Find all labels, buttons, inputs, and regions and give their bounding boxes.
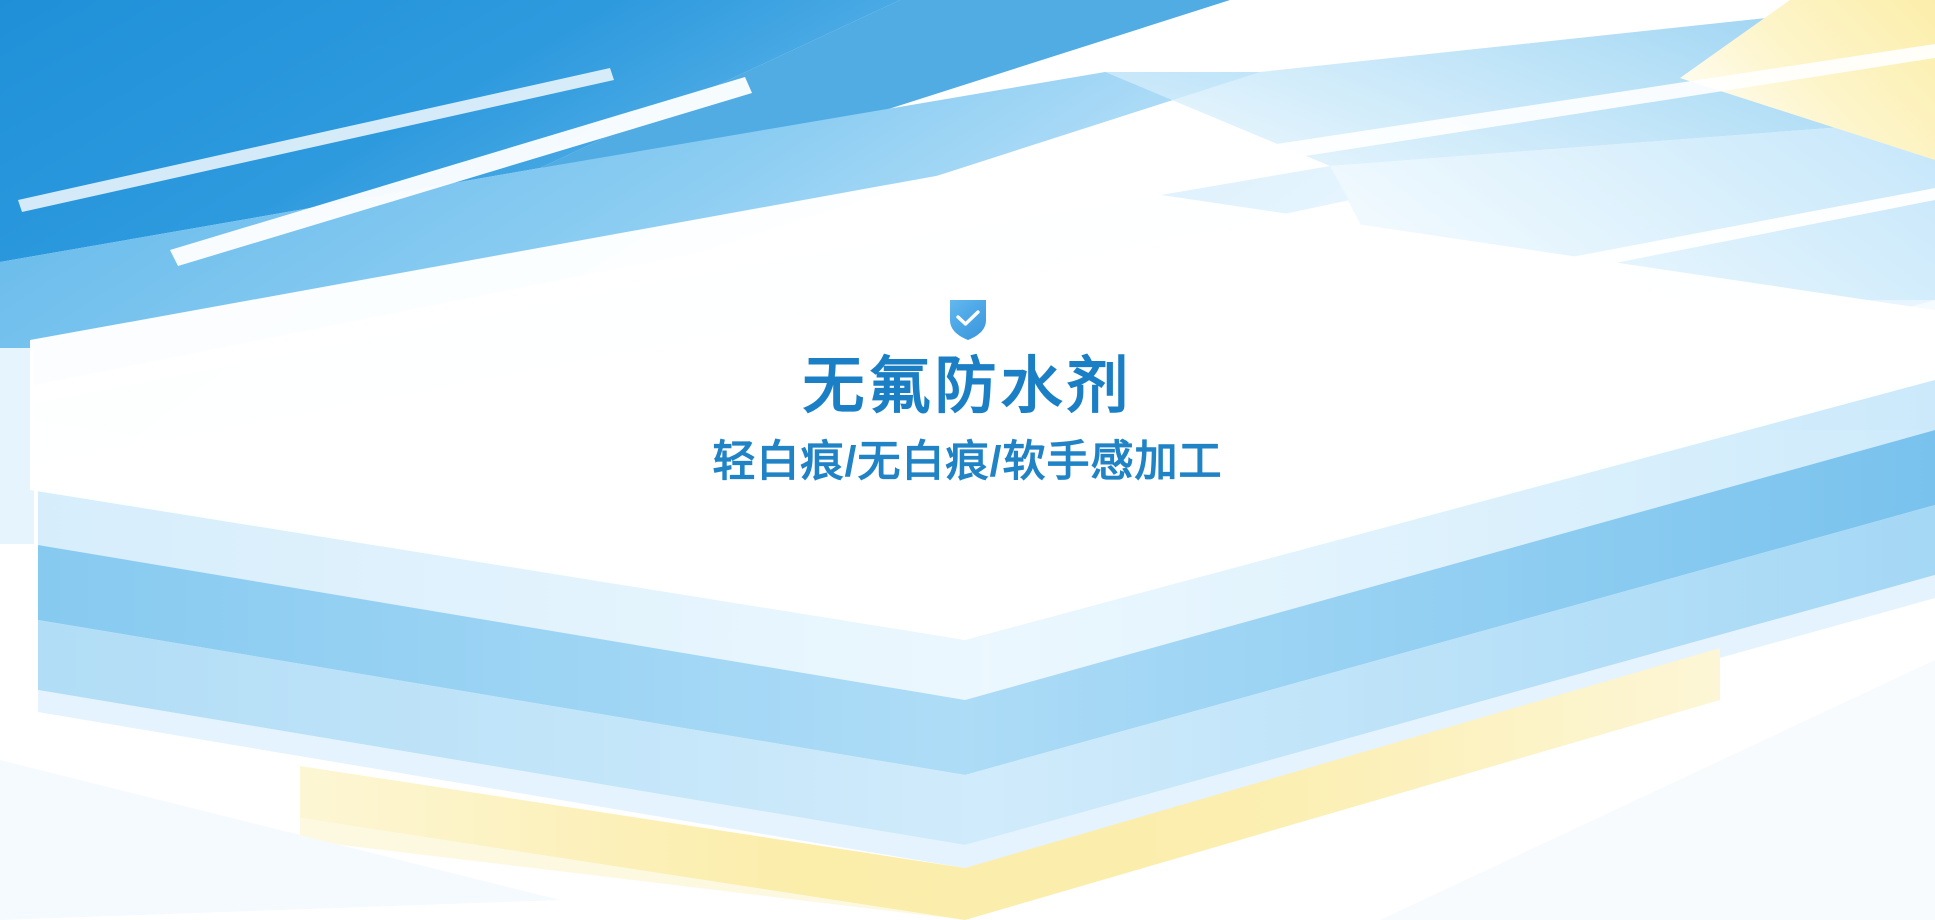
product-banner: 无氟防水剂 轻白痕/无白痕/软手感加工 <box>0 0 1935 920</box>
left-edge-mist-strip <box>0 348 34 544</box>
background-artwork <box>0 0 1935 920</box>
